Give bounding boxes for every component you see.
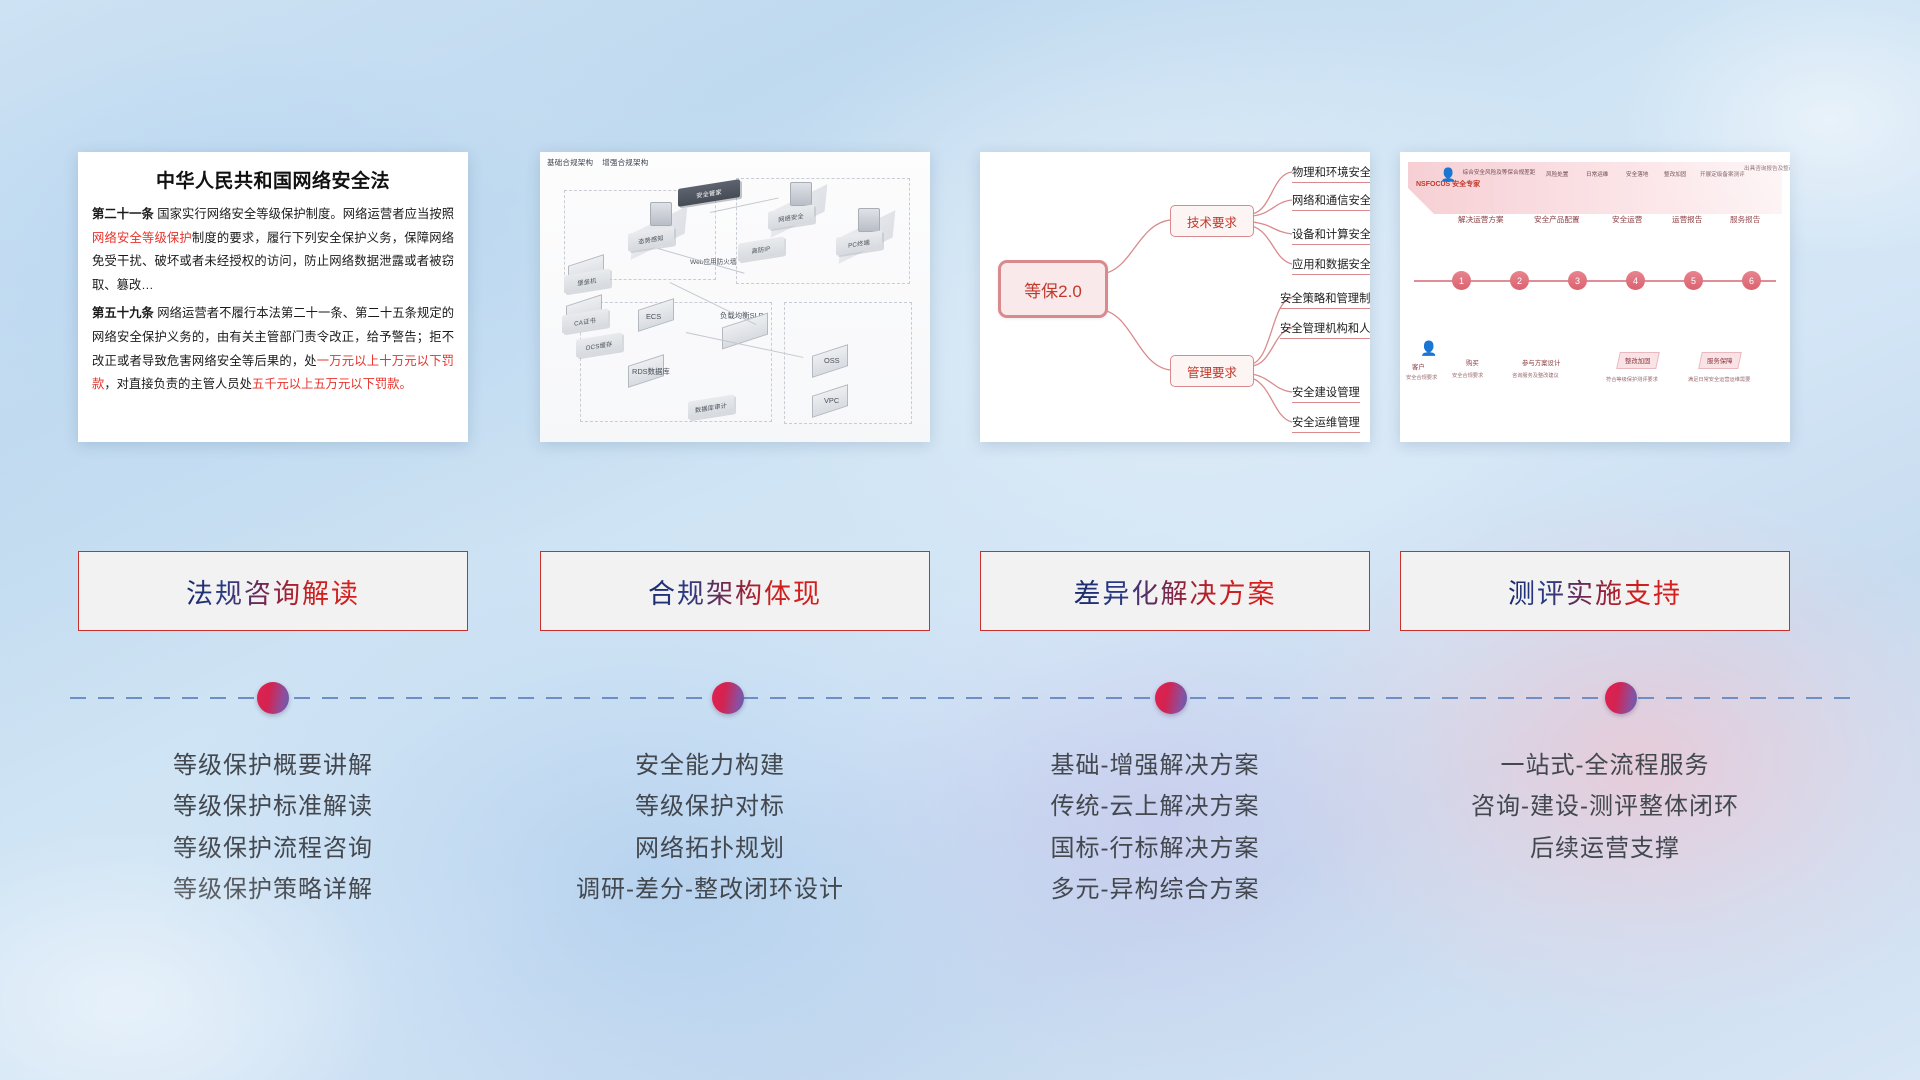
list-item: 多元-异构综合方案 (940, 869, 1370, 910)
banner-label: 测评实施支持 (1508, 572, 1682, 611)
feature-list-architecture: 安全能力构建 等级保护对标 网络拓扑规划 调研-差分-整改闭环设计 (495, 745, 925, 910)
mindmap-leaf: 安全运维管理 (1292, 414, 1360, 433)
roadmap-tag-sub: 满足日常安全运营运维需要 (1688, 376, 1750, 383)
roadmap-caption: 安全产品配置 (1534, 214, 1580, 225)
list-item: 国标-行标解决方案 (940, 828, 1370, 869)
roadmap-caption: 解决运营方案 (1458, 214, 1504, 225)
law-article-number: 第二十一条 (92, 207, 154, 221)
list-item: 等级保护流程咨询 (58, 828, 488, 869)
card-law-text: 中华人民共和国网络安全法 第二十一条 国家实行网络安全等级保护制度。网络运营者应… (78, 152, 468, 442)
law-run: 国家实行网络安全等级保护制度。网络运营者应当按照 (154, 207, 454, 221)
roadmap-step[interactable]: 3 (1568, 271, 1587, 290)
mindmap-canvas: 等保2.0 技术要求 管理要求 物理和环境安全 网络和通信安全 设备和计算安全 … (980, 152, 1370, 442)
feature-list-regulation: 等级保护概要讲解 等级保护标准解读 等级保护流程咨询 等级保护策略详解 (58, 745, 488, 910)
roadmap-caption: 安全运营 (1612, 214, 1642, 225)
roadmap-tag: 服务保障 (1698, 352, 1741, 369)
mindmap-leaf: 物理和环境安全 (1292, 164, 1370, 183)
feature-list-solution: 基础-增强解决方案 传统-云上解决方案 国标-行标解决方案 多元-异构综合方案 (940, 745, 1370, 910)
roadmap-person: 客户 (1412, 362, 1425, 371)
architecture-label: ECS (646, 312, 661, 321)
roadmap-step[interactable]: 4 (1626, 271, 1645, 290)
architecture-cube (650, 202, 672, 226)
architecture-label: VPC (824, 396, 839, 405)
roadmap-caption: 运营报告 (1672, 214, 1702, 225)
list-item: 网络拓扑规划 (495, 828, 925, 869)
timeline-dot[interactable] (1605, 682, 1637, 714)
architecture-tab-basic[interactable]: 基础合规架构 (547, 158, 593, 167)
list-item: 一站式-全流程服务 (1390, 745, 1820, 786)
law-title: 中华人民共和国网络安全法 (78, 166, 468, 193)
roadmap-person-label: 购买 (1466, 360, 1479, 367)
mindmap-leaf: 应用和数据安全 (1292, 256, 1370, 275)
banner-label: 法规咨询解读 (186, 572, 360, 611)
roadmap-band-item: 出具咨询报告及整改建议 (1744, 166, 1786, 173)
roadmap-caption: 服务报告 (1730, 214, 1760, 225)
mindmap-leaf: 设备和计算安全 (1292, 226, 1370, 245)
roadmap-person: 参与方案设计 (1522, 358, 1560, 367)
banner-label: 差异化解决方案 (1074, 572, 1277, 611)
list-item: 等级保护对标 (495, 786, 925, 827)
roadmap-person-sub: 安全合规要求 (1406, 374, 1437, 381)
architecture-zone (784, 302, 912, 424)
roadmap-tag-sub: 符合等级保护测评要求 (1606, 376, 1658, 383)
list-item: 等级保护概要讲解 (58, 745, 488, 786)
list-item: 调研-差分-整改闭环设计 (495, 869, 925, 910)
roadmap-step[interactable]: 2 (1510, 271, 1529, 290)
roadmap-band-item: 安全落地 (1626, 172, 1648, 179)
mindmap-root-node[interactable]: 等保2.0 (998, 260, 1108, 318)
card-architecture-diagram: 基础合规架构增强合规架构 安全管家 态势感知 网络安全 PC终端 Web应用防火… (540, 152, 930, 442)
roadmap-band-item: 风险处置 (1546, 172, 1568, 179)
mindmap-leaf: 网络和通信安全 (1292, 192, 1370, 211)
list-item: 安全能力构建 (495, 745, 925, 786)
timeline-axis (70, 697, 1850, 699)
mindmap-branch-technical[interactable]: 技术要求 (1170, 205, 1254, 237)
architecture-cube (790, 182, 812, 206)
roadmap-person-label: 客户 (1412, 364, 1425, 371)
roadmap-band-item: 整改加固 (1664, 172, 1686, 179)
list-item: 后续运营支撑 (1390, 828, 1820, 869)
mindmap-leaf: 安全建设管理 (1292, 384, 1360, 403)
roadmap-step[interactable]: 1 (1452, 271, 1471, 290)
law-run: ，对直接负责的主管人员处 (104, 377, 252, 391)
banner-compliance-architecture[interactable]: 合规架构体现 (540, 551, 930, 631)
timeline-dot[interactable] (1155, 682, 1187, 714)
roadmap-logo-text: NSFOCUS 安全专家 (1416, 181, 1480, 190)
banner-differentiated-solution[interactable]: 差异化解决方案 (980, 551, 1370, 631)
list-item: 等级保护策略详解 (58, 869, 488, 910)
banner-label: 合规架构体现 (648, 572, 822, 611)
roadmap-band-item: 综合安全风险及等保合规差距 (1460, 170, 1538, 177)
timeline-dot[interactable] (257, 682, 289, 714)
roadmap-tag-label: 整改加固 (1625, 356, 1651, 365)
roadmap-person-sub: 安全合规要求 (1452, 372, 1483, 379)
roadmap-band-item: 日常运维 (1586, 172, 1608, 179)
roadmap-canvas: 👤 NSFOCUS 安全专家 综合安全风险及等保合规差距 风险处置 日常运维 安… (1400, 152, 1790, 442)
list-item: 等级保护标准解读 (58, 786, 488, 827)
roadmap-step[interactable]: 6 (1742, 271, 1761, 290)
law-article-number: 第五十九条 (92, 306, 154, 320)
timeline-dot[interactable] (712, 682, 744, 714)
roadmap-tag-label: 服务保障 (1707, 356, 1733, 365)
law-run-highlight: 网络安全等级保护 (92, 231, 192, 245)
list-item: 传统-云上解决方案 (940, 786, 1370, 827)
list-item: 咨询-建设-测评整体闭环 (1390, 786, 1820, 827)
law-run-highlight: 五千元以上五万元以下罚款。 (252, 377, 412, 391)
feature-list-assessment: 一站式-全流程服务 咨询-建设-测评整体闭环 后续运营支撑 (1390, 745, 1820, 869)
law-paragraph: 第五十九条 网络运营者不履行本法第二十一条、第二十五条规定的网络安全保护义务的，… (92, 302, 454, 396)
customer-icon: 👤 (1420, 340, 1437, 358)
card-mindmap: 等保2.0 技术要求 管理要求 物理和环境安全 网络和通信安全 设备和计算安全 … (980, 152, 1370, 442)
architecture-label: RDS数据库 (632, 366, 670, 377)
law-paragraph: 第二十一条 国家实行网络安全等级保护制度。网络运营者应当按照网络安全等级保护制度… (92, 203, 454, 297)
card-roadmap: 👤 NSFOCUS 安全专家 综合安全风险及等保合规差距 风险处置 日常运维 安… (1400, 152, 1790, 442)
law-body: 第二十一条 国家实行网络安全等级保护制度。网络运营者应当按照网络安全等级保护制度… (78, 203, 468, 408)
architecture-canvas: 基础合规架构增强合规架构 安全管家 态势感知 网络安全 PC终端 Web应用防火… (540, 152, 930, 442)
mindmap-leaf: 安全策略和管理制度 (1280, 290, 1370, 309)
roadmap-step[interactable]: 5 (1684, 271, 1703, 290)
architecture-tabs: 基础合规架构增强合规架构 (547, 157, 657, 168)
banner-regulation-consulting[interactable]: 法规咨询解读 (78, 551, 468, 631)
list-item: 基础-增强解决方案 (940, 745, 1370, 786)
mindmap-branch-management[interactable]: 管理要求 (1170, 355, 1254, 387)
banner-assessment-support[interactable]: 测评实施支持 (1400, 551, 1790, 631)
roadmap-person: 购买 (1466, 358, 1479, 367)
architecture-label: OSS (824, 356, 840, 365)
mindmap-leaf: 安全管理机构和人员 (1280, 320, 1370, 339)
roadmap-person-sub: 咨询服务及整改建议 (1512, 372, 1559, 379)
roadmap-person-label: 参与方案设计 (1522, 360, 1560, 367)
architecture-cube (858, 208, 880, 232)
architecture-tab-enhanced[interactable]: 增强合规架构 (602, 158, 648, 167)
slide-canvas: 中华人民共和国网络安全法 第二十一条 国家实行网络安全等级保护制度。网络运营者应… (0, 0, 1920, 1080)
roadmap-band-item: 开展定级备案测评 (1700, 172, 1745, 179)
roadmap-tag: 整改加固 (1616, 352, 1659, 369)
